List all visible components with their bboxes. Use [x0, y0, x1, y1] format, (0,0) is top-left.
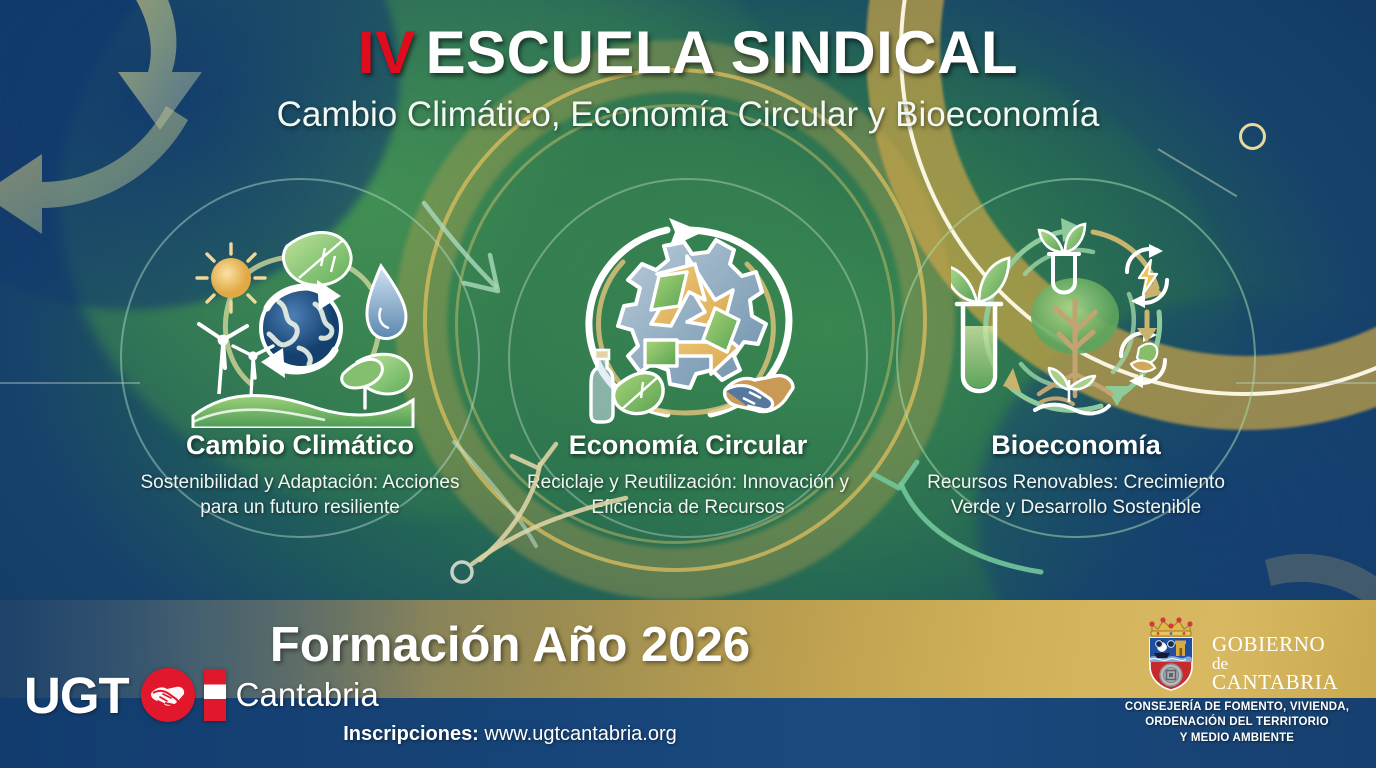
- inscripciones-label: Inscripciones:: [343, 723, 479, 745]
- cantabria-coat-of-arms-icon: [1140, 612, 1202, 692]
- handshake-icon: [141, 668, 195, 722]
- gobierno-cantabria-logo[interactable]: GOBIERNO de CANTABRIA: [1140, 612, 1338, 693]
- title-block: IVESCUELA SINDICAL Cambio Climático, Eco…: [0, 22, 1376, 135]
- cards-row: Cambio Climático Sostenibilidad y Adapta…: [0, 178, 1376, 598]
- title-roman-numeral: IV: [358, 19, 416, 86]
- recycle-gear-handshake-icon: [563, 216, 813, 428]
- ugt-region-label: Cantabria: [236, 676, 379, 714]
- climate-globe-sun-wind-icon: [175, 216, 425, 428]
- connector-arrow-card1-to-card2: [420, 195, 550, 315]
- ugt-wordmark: UGT: [24, 670, 129, 721]
- connector-arrow-card3-up: [855, 440, 1045, 600]
- ugt-logo[interactable]: UGT Cantabria: [24, 666, 379, 724]
- inscripciones-line: Inscripciones: www.ugtcantabria.org: [0, 723, 1020, 746]
- consejeria-line-2: ORDENACIÓN DEL TERRITORIO: [1098, 715, 1376, 730]
- page-subtitle: Cambio Climático, Economía Circular y Bi…: [0, 95, 1376, 135]
- gobierno-wordmark: GOBIERNO de CANTABRIA: [1212, 612, 1338, 693]
- gobierno-line-3: CANTABRIA: [1212, 672, 1338, 693]
- consejeria-text: CONSEJERÍA DE FOMENTO, VIVIENDA, ORDENAC…: [1098, 700, 1376, 746]
- ugt-flag-bar: [204, 669, 226, 721]
- card-description-1: Sostenibilidad y Adaptación: Acciones pa…: [130, 470, 470, 520]
- connector-arrow-card2-up: [440, 440, 630, 600]
- gobierno-line-1: GOBIERNO: [1212, 634, 1338, 655]
- consejeria-line-3: Y MEDIO AMBIENTE: [1098, 731, 1376, 746]
- inscripciones-url[interactable]: www.ugtcantabria.org: [484, 723, 676, 745]
- consejeria-line-1: CONSEJERÍA DE FOMENTO, VIVIENDA,: [1098, 700, 1376, 715]
- poster-canvas: IVESCUELA SINDICAL Cambio Climático, Eco…: [0, 0, 1376, 768]
- title-main-text: ESCUELA SINDICAL: [426, 19, 1018, 86]
- card-title-1: Cambio Climático: [110, 430, 490, 461]
- tree-testtube-energy-cycle-icon: [951, 216, 1201, 428]
- formacion-heading: Formación Año 2026: [0, 617, 1020, 673]
- page-title: IVESCUELA SINDICAL: [0, 22, 1376, 83]
